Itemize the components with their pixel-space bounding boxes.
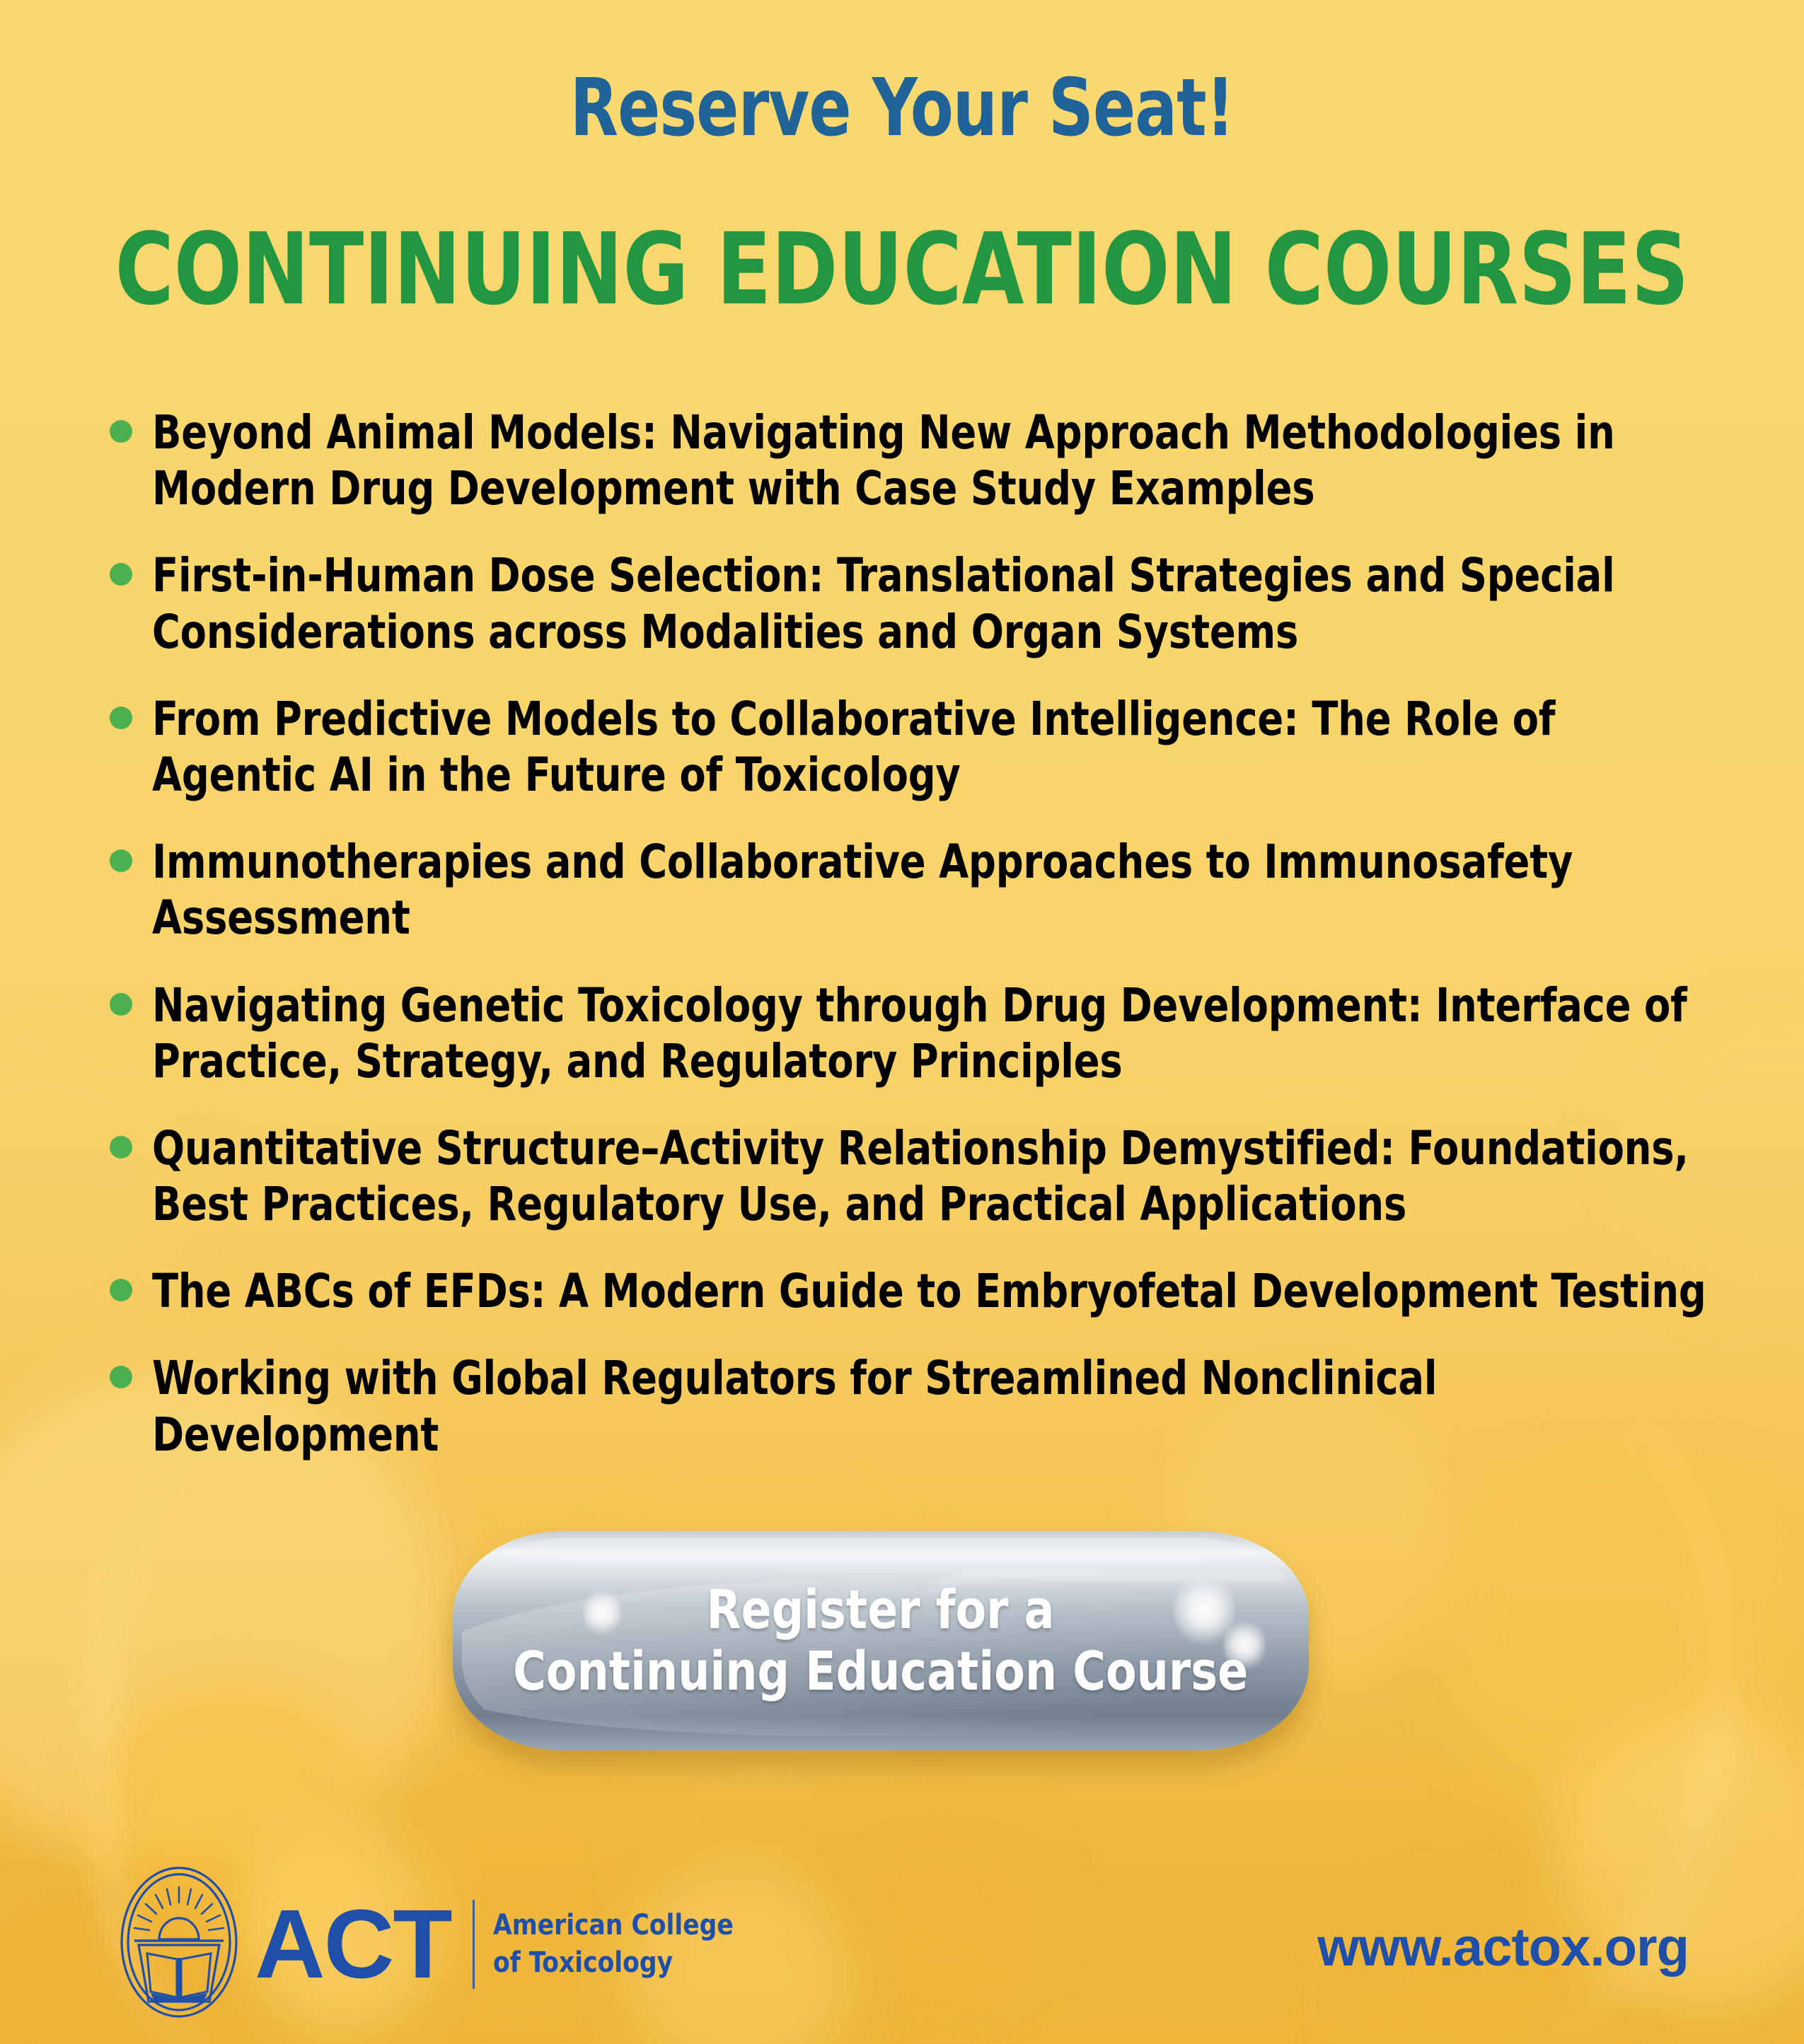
course-title: Quantitative Structure–Activity Relation… [152,1120,1730,1232]
course-title: Working with Global Regulators for Strea… [152,1350,1730,1462]
eyebrow-heading: Reserve Your Seat! [108,62,1696,154]
act-logo-lockup: ACT American College of Toxicology [119,1866,744,2022]
bullet-dot-icon [110,849,132,872]
course-title: The ABCs of EFDs: A Modern Guide to Embr… [152,1263,1730,1319]
cta-line-1: Register for a [707,1579,1055,1641]
sunrise-over-open-book-seal-icon [119,1866,239,2022]
cta-line-2: Continuing Education Course [513,1641,1248,1702]
page-title: CONTINUING EDUCATION COURSES [91,212,1714,327]
course-title: From Predictive Models to Collaborative … [152,691,1730,803]
list-item: Quantitative Structure–Activity Relation… [110,1120,1730,1232]
act-wordmark: ACT [255,1895,451,1993]
act-name-line-1: American College [493,1907,734,1944]
list-item: Beyond Animal Models: Navigating New App… [110,405,1730,516]
bullet-dot-icon [110,563,132,586]
logo-divider [473,1900,475,1989]
course-title: Navigating Genetic Toxicology through Dr… [152,977,1730,1089]
bullet-dot-icon [110,707,132,729]
course-list: Beyond Animal Models: Navigating New App… [110,405,1730,1494]
bullet-dot-icon [110,1136,132,1159]
list-item: The ABCs of EFDs: A Modern Guide to Embr… [110,1263,1730,1319]
bullet-dot-icon [110,1279,132,1301]
bullet-dot-icon [110,420,132,443]
act-full-name: American College of Toxicology [493,1907,734,1982]
list-item: First-in-Human Dose Selection: Translati… [110,547,1730,659]
list-item: Working with Global Regulators for Strea… [110,1350,1730,1462]
bullet-dot-icon [110,993,132,1016]
list-item: Navigating Genetic Toxicology through Dr… [110,977,1730,1089]
list-item: Immunotherapies and Collaborative Approa… [110,834,1730,946]
register-button[interactable]: Register for a Continuing Education Cour… [453,1531,1309,1750]
register-button-labels: Register for a Continuing Education Cour… [453,1531,1309,1750]
course-title: Beyond Animal Models: Navigating New App… [152,405,1730,516]
list-item: From Predictive Models to Collaborative … [110,691,1730,803]
act-name-line-2: of Toxicology [493,1944,734,1982]
bullet-dot-icon [110,1366,132,1388]
course-title: First-in-Human Dose Selection: Translati… [152,547,1730,659]
course-title: Immunotherapies and Collaborative Approa… [152,834,1730,946]
website-url[interactable]: www.actox.org [1317,1917,1689,1978]
